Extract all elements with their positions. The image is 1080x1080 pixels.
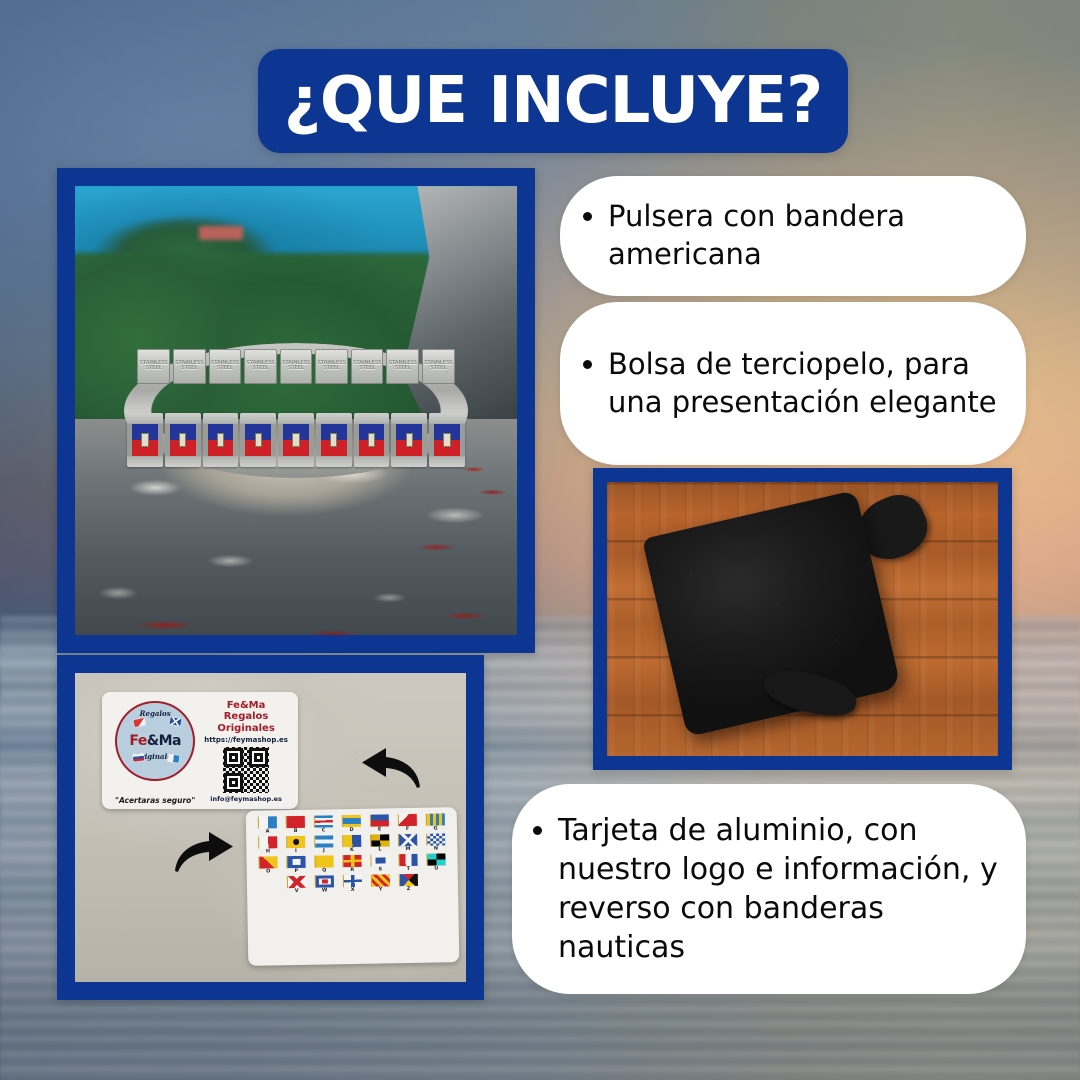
flag-cell-z: Z	[396, 874, 421, 892]
flag-cell-g: G	[423, 813, 448, 831]
flag-cell-o: O	[256, 856, 281, 874]
flag-row: V W X Y Z	[252, 873, 453, 895]
flag-letter: N	[434, 846, 438, 851]
flag-u-icon	[427, 853, 446, 865]
flag-letter: T	[407, 867, 411, 872]
logo-top-word: Regalos	[117, 709, 193, 718]
flag-c-icon	[314, 815, 333, 827]
flag-letter: K	[350, 848, 354, 853]
bracelet-back-links: STAINLESS STEEL STAINLESS STEEL STAINLES…	[137, 349, 454, 384]
mini-flag-icon	[132, 753, 144, 761]
bracelet-link-text: STAINLESS STEEL	[386, 361, 419, 372]
logo-wordmark: Fe&Ma	[129, 733, 181, 749]
bullet-item: Tarjeta de aluminio, con nuestro logo e …	[558, 811, 1008, 967]
flag-cell-r: R	[340, 855, 365, 873]
business-card-info-area: Fe&Ma Regalos Originales https://feymash…	[200, 700, 292, 806]
flag-row: H I J K L M N	[251, 833, 452, 855]
flag-cell-i: I	[283, 836, 308, 854]
title-banner: ¿QUE INCLUYE?	[258, 49, 848, 153]
flag-b-icon	[286, 816, 305, 828]
flag-cell-f: F	[395, 814, 420, 832]
flag-n-icon	[426, 833, 445, 845]
bracelet-product: STAINLESS STEEL STAINLESS STEEL STAINLES…	[124, 343, 469, 478]
haiti-flag-icon	[132, 424, 158, 456]
flag-letter: C	[322, 828, 326, 833]
flag-letter: M	[405, 847, 410, 852]
bracelet-link-stamped: STAINLESS STEEL	[280, 349, 313, 384]
bracelet-link-text: STAINLESS STEEL	[280, 361, 313, 372]
bracelet-link-stamped: STAINLESS STEEL	[315, 349, 348, 384]
haiti-flag-icon	[208, 424, 234, 456]
mini-flag-icon	[169, 717, 181, 726]
haiti-flag-icon	[321, 424, 347, 456]
flag-x-icon	[343, 875, 362, 887]
bullet-list: Bolsa de terciopelo, para una presentaci…	[566, 346, 1006, 421]
logo-fe: Fe	[129, 733, 147, 749]
bracelet-flag-panel	[278, 413, 314, 467]
business-card-logo-area: Regalos Fe&Ma Originales	[108, 699, 198, 802]
flag-letter: Q	[322, 868, 326, 873]
mini-flag-icon	[168, 755, 180, 763]
bullet-list: Tarjeta de aluminio, con nuestro logo e …	[518, 811, 1008, 967]
bullet-item: Pulsera con bandera americana	[608, 198, 1000, 273]
flag-cell-w: W	[312, 875, 337, 893]
flag-letter: I	[295, 849, 297, 854]
flag-e-icon	[370, 814, 389, 826]
business-card-front: Regalos Fe&Ma Originales "Acertaras segu…	[102, 692, 298, 809]
logo-bottom-word: Originales	[117, 752, 193, 761]
bullet-box-3: Tarjeta de aluminio, con nuestro logo e …	[512, 784, 1026, 994]
bracelet-rooftop	[199, 226, 243, 239]
flag-letter: F	[406, 827, 410, 832]
arrow-right-icon	[173, 831, 235, 873]
qr-code-icon	[223, 747, 269, 793]
bullet-box-1: Pulsera con bandera americana	[560, 176, 1026, 296]
flag-k-icon	[342, 835, 361, 847]
poster-canvas: ¿QUE INCLUYE? STAINLESS STEEL STAINLESS …	[0, 0, 1080, 1080]
flag-letter: B	[294, 829, 298, 834]
business-card-brand-line-2: Regalos Originales	[200, 711, 292, 734]
flag-cell-j: J	[311, 835, 336, 853]
photo-bracelet: STAINLESS STEEL STAINLESS STEEL STAINLES…	[75, 186, 517, 635]
bullet-list: Pulsera con bandera americana	[566, 198, 1000, 273]
bracelet-link-text: STAINLESS STEEL	[173, 361, 206, 372]
logo-ampersand: &	[147, 733, 159, 749]
bracelet-link-text: STAINLESS STEEL	[351, 361, 384, 372]
flag-a-icon	[258, 816, 277, 828]
logo-ma: Ma	[159, 733, 181, 749]
haiti-flag-icon	[170, 424, 196, 456]
flag-letter: J	[323, 848, 325, 853]
flag-letter: Y	[379, 887, 383, 892]
haiti-flag-icon	[245, 424, 271, 456]
flag-g-icon	[426, 813, 445, 825]
page-title: ¿QUE INCLUYE?	[284, 69, 823, 133]
flag-s-icon	[371, 854, 390, 866]
flag-letter: R	[350, 868, 354, 873]
flag-cell-x: X	[340, 875, 365, 893]
flag-letter: E	[378, 827, 382, 832]
bracelet-link-stamped: STAINLESS STEEL	[244, 349, 277, 384]
flag-letter: G	[434, 826, 438, 831]
flag-row: O P Q R S T U	[252, 853, 453, 875]
flag-letter: A	[266, 829, 270, 834]
bracelet-flag-panel	[316, 413, 352, 467]
bracelet-flag-panel	[165, 413, 201, 467]
bracelet-flag-panel	[203, 413, 239, 467]
flag-cell-m: M	[395, 834, 420, 852]
bracelet-link-stamped: STAINLESS STEEL	[137, 349, 170, 384]
flag-cell-q: Q	[312, 855, 337, 873]
flag-cell-v: V	[284, 876, 309, 894]
bracelet-link-text: STAINLESS STEEL	[244, 361, 277, 372]
photo-frame-bracelet: STAINLESS STEEL STAINLESS STEEL STAINLES…	[57, 168, 535, 653]
flag-y-icon	[371, 874, 390, 886]
bracelet-link-stamped: STAINLESS STEEL	[173, 349, 206, 384]
bracelet-link-stamped: STAINLESS STEEL	[386, 349, 419, 384]
flag-cell-d: D	[339, 815, 364, 833]
flag-letter: V	[295, 889, 299, 894]
flag-r-icon	[343, 855, 362, 867]
flag-h-icon	[258, 836, 277, 848]
flag-t-icon	[399, 854, 418, 866]
photo-frame-card: Regalos Fe&Ma Originales "Acertaras segu…	[57, 655, 484, 1000]
flag-q-icon	[315, 855, 334, 867]
nautical-flag-card: A B C D E F G H I J K L M N	[246, 807, 460, 965]
flag-letter: P	[294, 869, 298, 874]
flag-letter: H	[266, 849, 270, 854]
bracelet-link-text: STAINLESS STEEL	[209, 361, 242, 372]
flag-cell-a: A	[255, 816, 280, 834]
haiti-flag-icon	[396, 424, 422, 456]
arrow-left-icon	[360, 747, 422, 789]
flag-letter: X	[351, 888, 355, 893]
flag-cell-t: T	[396, 854, 421, 872]
flag-cell-s: S	[368, 854, 393, 872]
qr-finder-icon	[224, 773, 243, 792]
haiti-flag-icon	[359, 424, 385, 456]
bracelet-link-stamped: STAINLESS STEEL	[422, 349, 455, 384]
flag-cell-l: L	[367, 834, 392, 852]
business-card-url: https://feymashop.es	[200, 736, 292, 744]
flag-d-icon	[342, 815, 361, 827]
flag-o-icon	[259, 856, 278, 868]
flag-cell-b: B	[283, 816, 308, 834]
flag-row: A B C D E F G	[251, 813, 452, 835]
flag-j-icon	[314, 835, 333, 847]
flag-letter: O	[266, 869, 270, 874]
flag-letter: D	[349, 828, 353, 833]
flag-cell-n: N	[423, 833, 448, 851]
bullet-item: Bolsa de terciopelo, para una presentaci…	[608, 346, 1006, 421]
flag-cell-u: U	[424, 853, 449, 871]
photo-frame-bag	[593, 468, 1012, 770]
flag-z-icon	[399, 874, 418, 886]
flag-letter: U	[434, 866, 438, 871]
photo-aluminium-card: Regalos Fe&Ma Originales "Acertaras segu…	[75, 673, 466, 982]
flag-letter: L	[378, 847, 381, 852]
flag-p-icon	[287, 856, 306, 868]
business-card-brand-line-1: Fe&Ma	[200, 700, 292, 712]
business-card-tagline: "Acertaras seguro"	[106, 796, 204, 805]
flag-cell-c: C	[311, 815, 336, 833]
flag-letter: Z	[407, 887, 411, 892]
bracelet-link-text: STAINLESS STEEL	[315, 361, 348, 372]
flag-cell-e: E	[367, 814, 392, 832]
flag-cell-k: K	[339, 835, 364, 853]
flag-letter: S	[378, 867, 382, 872]
bracelet-link-text: STAINLESS STEEL	[422, 361, 455, 372]
bracelet-flag-panel	[240, 413, 276, 467]
bracelet-flag-panel	[391, 413, 427, 467]
bracelet-link-text: STAINLESS STEEL	[137, 361, 170, 372]
flag-m-icon	[398, 834, 417, 846]
business-card-email: info@feymashop.es	[200, 795, 292, 803]
haiti-flag-icon	[283, 424, 309, 456]
flag-cell-y: Y	[368, 874, 393, 892]
bracelet-flag-panel	[127, 413, 163, 467]
bracelet-link-stamped: STAINLESS STEEL	[351, 349, 384, 384]
bracelet-flag-links	[127, 413, 465, 467]
flag-l-icon	[370, 834, 389, 846]
mini-flag-icon	[133, 718, 145, 727]
fema-logo-icon: Regalos Fe&Ma Originales	[115, 701, 195, 781]
flag-v-icon	[287, 876, 306, 888]
flag-w-icon	[315, 875, 334, 887]
haiti-flag-icon	[434, 424, 460, 456]
bracelet-link-stamped: STAINLESS STEEL	[209, 349, 242, 384]
flag-letter: W	[322, 888, 328, 893]
flag-f-icon	[398, 814, 417, 826]
flag-i-icon	[286, 836, 305, 848]
bullet-box-2: Bolsa de terciopelo, para una presentaci…	[560, 302, 1026, 465]
bracelet-flag-panel	[354, 413, 390, 467]
flag-cell-h: H	[255, 836, 280, 854]
bracelet-flag-panel	[429, 413, 465, 467]
photo-velvet-bag	[607, 482, 998, 756]
flag-cell-p: P	[284, 856, 309, 874]
